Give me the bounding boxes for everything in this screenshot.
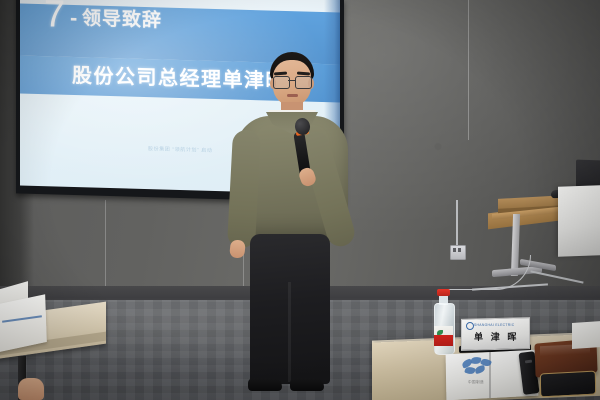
eyeglass-lens <box>295 76 312 89</box>
trouser-leg-seam <box>288 282 291 382</box>
placard-org-text: SHANGHAI ELECTRIC <box>474 322 515 328</box>
bottle-cap <box>437 289 450 296</box>
eyeglasses-icon <box>272 76 312 87</box>
speaker-mouth <box>287 94 298 97</box>
socket-slot <box>458 248 461 252</box>
slide-footer-text: 股份集团 “领航计划” 启动 <box>148 145 213 155</box>
wall-panel-seam <box>468 0 469 140</box>
eyeglass-lens <box>273 76 290 89</box>
smartphone <box>540 371 596 398</box>
conference-room-photo: 7 - 领导致辞 股份公司总经理单津晖 股份集团 “领航计划” 启动 <box>0 0 600 400</box>
slide-title: 领导致辞 <box>82 1 162 39</box>
wall-panel-seam <box>105 200 106 298</box>
speaker-figure <box>216 52 356 400</box>
speaker-shoe <box>290 378 324 391</box>
stacked-papers <box>572 321 600 349</box>
eyeglass-bridge <box>288 80 295 81</box>
foreground-hand <box>18 378 44 400</box>
speaker-shoe <box>248 378 282 391</box>
power-cable-vertical <box>456 200 458 248</box>
booklet-spine <box>489 352 491 398</box>
slide-dash-separator: - <box>70 0 77 37</box>
lectern <box>558 185 600 257</box>
placard-name-text: 单 津 晖 <box>474 331 519 344</box>
slide-section-number: 7 <box>44 0 65 43</box>
booklet-caption: 中国制造 <box>468 379 484 385</box>
bottle-label <box>434 326 453 346</box>
speaker-hand <box>229 239 246 258</box>
placard-logo-icon <box>466 322 474 330</box>
socket-slot <box>453 248 456 252</box>
